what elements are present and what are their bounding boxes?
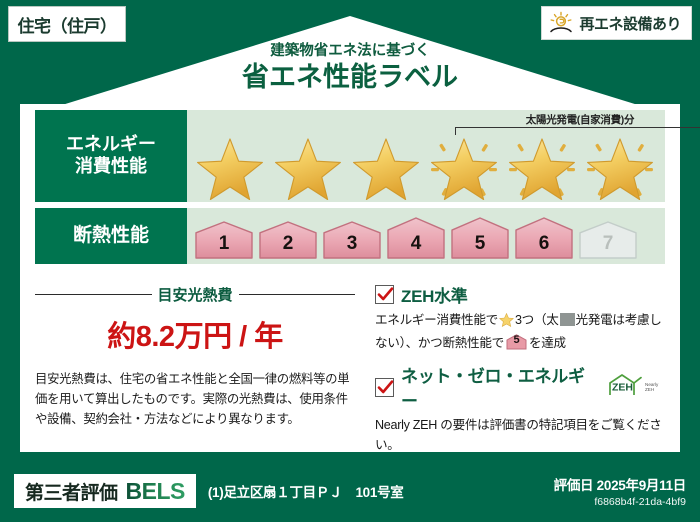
insulation-performance-row: 断熱性能 1 2 [35, 208, 665, 264]
check-head-net-zero-energy: ネット・ゼロ・エネルギー ZEH Nearly ZEH [375, 362, 665, 412]
insulation-level-badge: 2 [257, 220, 319, 260]
insulation-level-badge: 1 [193, 220, 255, 260]
insulation-level-badge: 3 [321, 220, 383, 260]
label-title-block: 建築物省エネ法に基づく 省エネ性能ラベル [0, 44, 700, 95]
title-main: 省エネ性能ラベル [0, 61, 700, 95]
star-icon [269, 132, 346, 200]
footer-bar: 第三者評価 BELS (1)足立区扇１丁目ＰＪ 101号室 評価日 2025年9… [0, 460, 700, 522]
performance-panel: エネルギー 消費性能 太陽光発電(自家消費)分 [35, 110, 665, 270]
zeh-body-part2: 3つ（太 [515, 313, 559, 327]
lower-content: 目安光熱費 約8.2万円 / 年 目安光熱費は、住宅の省エネ性能と全国一律の燃料… [35, 282, 665, 446]
heading-rule-left [35, 294, 152, 296]
sun-icon [548, 11, 574, 35]
insulation-level-number: 1 [193, 233, 255, 255]
star-icon [581, 132, 658, 200]
star-icon [503, 132, 580, 200]
footer-meta: 評価日 2025年9月11日 f6868b4f-21da-4bf9 [554, 474, 686, 508]
checkbox-checked-icon [375, 285, 394, 304]
energy-key-line2: 消費性能 [75, 156, 147, 178]
insulation-level-scale: 1 2 3 [187, 208, 665, 264]
check-item-net-zero-energy: ネット・ゼロ・エネルギー ZEH Nearly ZEH Nearly ZEH の… [375, 362, 665, 455]
category-chip-label: 住宅（住戸） [18, 12, 117, 37]
insulation-level-badge: 6 [513, 216, 575, 260]
insulation-level-number: 3 [321, 233, 383, 255]
category-chip: 住宅（住戸） [8, 6, 126, 42]
insulation-level-number: 2 [257, 233, 319, 255]
insulation-level-badge: 4 [385, 216, 447, 260]
energy-performance-value: 太陽光発電(自家消費)分 [187, 110, 665, 202]
star-icon [425, 132, 502, 200]
bels-badge-ja: 第三者評価 [25, 478, 118, 505]
property-address: (1)足立区扇１丁目ＰＪ 101号室 [208, 481, 404, 501]
zeh-body-part4: を達成 [529, 336, 566, 350]
checkbox-checked-icon [375, 378, 394, 397]
renewable-equipment-chip: 再エネ設備あり [541, 6, 692, 40]
insulation-level-number: 4 [385, 233, 447, 255]
energy-key-line1: エネルギー [66, 134, 156, 156]
star-icon [347, 132, 424, 200]
energy-performance-row: エネルギー 消費性能 太陽光発電(自家消費)分 [35, 110, 665, 202]
check-title-zeh-standard: ZEH水準 [401, 282, 468, 307]
star-icon [499, 316, 514, 330]
insulation-performance-key: 断熱性能 [35, 208, 187, 264]
zeh-body-part1: エネルギー消費性能で [375, 313, 498, 327]
insulation-level-badge: 5 [449, 216, 511, 260]
solar-annotation-label: 太陽光発電(自家消費)分 [455, 112, 700, 127]
bels-badge: 第三者評価 BELS [14, 474, 196, 508]
utility-cost-amount: 約8.2万円 / 年 [35, 313, 355, 355]
check-body-net-zero-energy: Nearly ZEH の要件は評価書の特記項目をご覧ください。 [375, 416, 665, 455]
bels-badge-en: BELS [126, 478, 185, 505]
bels-energy-label: 住宅（住戸） 再エネ設備あり 建築物省エネ法に基づく 省エネ性能ラベル [0, 0, 700, 522]
svg-text:ZEH: ZEH [612, 381, 633, 393]
insulation-key-label: 断熱性能 [73, 224, 149, 247]
svg-text:ZEH: ZEH [645, 387, 654, 392]
utility-cost-block: 目安光熱費 約8.2万円 / 年 目安光熱費は、住宅の省エネ性能と全国一律の燃料… [35, 282, 365, 446]
insulation-level-number: 5 [449, 233, 511, 255]
evaluation-date: 評価日 2025年9月11日 [554, 474, 686, 494]
insulation-level-badge: 7 [577, 220, 639, 260]
star-icon [191, 132, 268, 200]
solar-annotation-bracket [455, 127, 700, 135]
utility-cost-note: 目安光熱費は、住宅の省エネ性能と全国一律の燃料等の単価を用いて算出したものです。… [35, 369, 355, 429]
check-head-zeh-standard: ZEH水準 [375, 282, 665, 307]
document-id: f6868b4f-21da-4bf9 [554, 496, 686, 508]
check-body-zeh-standard: エネルギー消費性能で3つ（太光発電は考慮しない）、かつ断熱性能で5を達成 [375, 311, 665, 353]
title-subtitle: 建築物省エネ法に基づく [0, 44, 700, 60]
renewable-chip-label: 再エネ設備あり [579, 13, 681, 34]
insulation-level-number: 7 [577, 233, 639, 255]
redaction-block [560, 313, 575, 326]
utility-cost-heading: 目安光熱費 [35, 284, 355, 305]
utility-cost-title: 目安光熱費 [158, 284, 233, 305]
heading-rule-right [239, 294, 356, 296]
check-item-zeh-standard: ZEH水準 エネルギー消費性能で3つ（太光発電は考慮しない）、かつ断熱性能で5を… [375, 282, 665, 353]
insulation-level-number: 6 [513, 233, 575, 255]
check-title-net-zero-energy: ネット・ゼロ・エネルギー [401, 362, 596, 412]
insulation-performance-value: 1 2 3 [187, 208, 665, 264]
zeh-house-logo-icon: ZEH Nearly ZEH [607, 373, 665, 402]
level-badge-icon: 5 [506, 334, 527, 350]
level-badge-value: 5 [506, 332, 527, 349]
certification-checks: ZEH水準 エネルギー消費性能で3つ（太光発電は考慮しない）、かつ断熱性能で5を… [365, 282, 665, 446]
energy-performance-key: エネルギー 消費性能 [35, 110, 187, 202]
